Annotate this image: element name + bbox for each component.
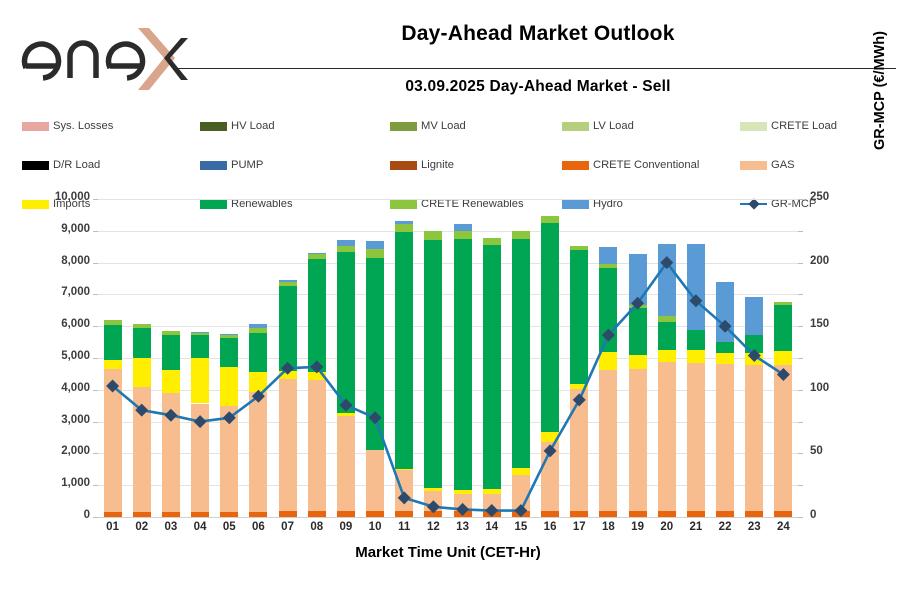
bar-segment xyxy=(570,389,588,511)
bar-segment xyxy=(337,416,355,511)
bar-column[interactable] xyxy=(279,199,297,517)
bar-segment xyxy=(220,334,238,335)
y-axis-right-tick-label: 250 xyxy=(810,191,870,203)
legend-swatch-icon xyxy=(200,122,227,131)
y-axis-left-tick xyxy=(93,485,98,486)
bar-segment xyxy=(483,245,501,489)
y-axis-left-tick-label: 10,000 xyxy=(20,191,90,203)
bar-column[interactable] xyxy=(162,199,180,517)
bar-segment xyxy=(424,231,442,239)
y-axis-left-tick xyxy=(93,326,98,327)
bar-segment xyxy=(629,308,647,355)
y-axis-left-tick xyxy=(93,263,98,264)
bar-column[interactable] xyxy=(658,199,676,517)
bar-column[interactable] xyxy=(220,199,238,517)
x-axis-tick-label: 04 xyxy=(186,521,214,533)
y-axis-left-tick xyxy=(93,390,98,391)
bar-segment xyxy=(774,365,792,511)
bar-column[interactable] xyxy=(366,199,384,517)
y-axis-left-tick xyxy=(93,517,98,518)
y-axis-left-tick-label: 1,000 xyxy=(20,477,90,489)
bar-segment xyxy=(308,372,326,380)
x-axis-tick-label: 12 xyxy=(419,521,447,533)
bar-column[interactable] xyxy=(104,199,122,517)
legend-row: D/R LoadPUMPLigniteCRETE ConventionalGAS xyxy=(22,140,902,160)
bar-column[interactable] xyxy=(629,199,647,517)
bar-segment xyxy=(512,475,530,511)
y-axis-right-title: GR-MCP (€/MWh) xyxy=(872,31,888,150)
bar-segment xyxy=(133,324,151,327)
bar-segment xyxy=(191,333,209,336)
page-subtitle: 03.09.2025 Day-Ahead Market - Sell xyxy=(180,78,896,96)
y-axis-right-tick xyxy=(798,199,803,200)
bar-segment xyxy=(308,380,326,511)
bar-column[interactable] xyxy=(395,199,413,517)
x-axis-tick-label: 16 xyxy=(536,521,564,533)
bar-segment xyxy=(104,320,122,325)
bar-segment xyxy=(366,249,384,257)
bar-segment xyxy=(687,244,705,330)
bar-segment xyxy=(395,224,413,232)
x-axis-tick-label: 08 xyxy=(303,521,331,533)
bar-segment xyxy=(599,264,617,267)
x-axis-tick-label: 14 xyxy=(478,521,506,533)
bar-segment xyxy=(104,325,122,360)
legend-item-hv-load[interactable]: HV Load xyxy=(200,120,275,132)
bar-column[interactable] xyxy=(424,199,442,517)
x-axis-tick-label: 10 xyxy=(361,521,389,533)
bar-segment xyxy=(133,328,151,358)
x-axis-tick-label: 15 xyxy=(507,521,535,533)
bar-segment xyxy=(162,393,180,512)
bar-segment xyxy=(658,316,676,322)
bar-segment xyxy=(658,244,676,316)
bar-column[interactable] xyxy=(687,199,705,517)
bar-column[interactable] xyxy=(570,199,588,517)
y-axis-right-tick xyxy=(798,358,803,359)
bar-segment xyxy=(541,442,559,511)
bar-segment xyxy=(483,494,501,511)
bar-segment xyxy=(279,379,297,511)
y-axis-left-tick-label: 7,000 xyxy=(20,286,90,298)
bar-segment xyxy=(454,239,472,490)
legend-label: MV Load xyxy=(421,120,466,132)
x-axis-line xyxy=(98,517,798,518)
bar-column[interactable] xyxy=(308,199,326,517)
x-axis-tick-label: 01 xyxy=(99,521,127,533)
y-axis-left-tick xyxy=(93,358,98,359)
chart-legend: Sys. LossesHV LoadMV LoadLV LoadCRETE Lo… xyxy=(22,120,902,178)
bar-segment xyxy=(687,350,705,363)
page-title: Day-Ahead Market Outlook xyxy=(180,22,896,46)
bar-segment xyxy=(454,490,472,494)
bar-segment xyxy=(337,252,355,414)
bar-segment xyxy=(629,355,647,369)
y-axis-left-tick-label: 3,000 xyxy=(20,414,90,426)
bar-segment xyxy=(512,239,530,468)
y-axis-left-tick xyxy=(93,231,98,232)
bar-segment xyxy=(249,324,267,328)
y-axis-right-tick xyxy=(798,485,803,486)
bar-segment xyxy=(395,469,413,470)
bar-segment xyxy=(104,360,122,370)
bar-segment xyxy=(745,353,763,365)
bar-segment xyxy=(570,250,588,384)
bar-segment xyxy=(658,362,676,511)
bar-segment xyxy=(249,333,267,372)
bar-segment xyxy=(133,358,151,387)
bar-segment xyxy=(541,223,559,432)
bar-segment xyxy=(716,282,734,341)
bar-segment xyxy=(220,334,238,338)
bar-segment xyxy=(745,297,763,335)
x-axis-tick-label: 17 xyxy=(565,521,593,533)
bar-segment xyxy=(658,322,676,350)
legend-item-mv-load[interactable]: MV Load xyxy=(390,120,466,132)
bar-column[interactable] xyxy=(337,199,355,517)
bar-segment xyxy=(395,221,413,224)
bar-segment xyxy=(541,216,559,223)
x-axis-tick-label: 18 xyxy=(594,521,622,533)
header-divider xyxy=(178,68,896,69)
bar-column[interactable] xyxy=(454,199,472,517)
y-axis-right-tick-label: 0 xyxy=(810,509,870,521)
bar-segment xyxy=(745,365,763,512)
legend-row: Sys. LossesHV LoadMV LoadLV LoadCRETE Lo… xyxy=(22,120,902,140)
y-axis-left-tick-label: 2,000 xyxy=(20,445,90,457)
y-axis-right-tick-label: 150 xyxy=(810,318,870,330)
legend-label: HV Load xyxy=(231,120,275,132)
x-axis-tick-label: 20 xyxy=(653,521,681,533)
bar-segment xyxy=(424,240,442,488)
bar-segment xyxy=(220,367,238,407)
bar-segment xyxy=(337,413,355,416)
bar-segment xyxy=(279,286,297,371)
chart-plot-area xyxy=(98,199,798,517)
bar-segment xyxy=(658,350,676,363)
bar-column[interactable] xyxy=(133,199,151,517)
bar-segment xyxy=(366,241,384,249)
legend-swatch-icon xyxy=(740,122,767,131)
y-axis-right-tick xyxy=(798,453,803,454)
x-axis-tick-label: 03 xyxy=(157,521,185,533)
y-axis-right-tick-label: 50 xyxy=(810,445,870,457)
bar-segment xyxy=(133,387,151,512)
bar-segment xyxy=(716,342,734,353)
bar-segment xyxy=(162,370,180,392)
bar-segment xyxy=(745,335,763,353)
y-axis-left-tick xyxy=(93,422,98,423)
y-axis-right-tick xyxy=(798,390,803,391)
legend-item-crete-load[interactable]: CRETE Load xyxy=(740,120,837,132)
y-axis-left-tick xyxy=(93,199,98,200)
bar-segment xyxy=(395,470,413,512)
bar-segment xyxy=(249,392,267,511)
bar-column[interactable] xyxy=(599,199,617,517)
bar-segment xyxy=(279,282,297,286)
bar-segment xyxy=(599,268,617,352)
legend-label: LV Load xyxy=(593,120,634,132)
y-axis-right-tick-label: 100 xyxy=(810,382,870,394)
legend-item-lv-load[interactable]: LV Load xyxy=(562,120,634,132)
bar-segment xyxy=(424,488,442,492)
bar-segment xyxy=(629,305,647,308)
bar-segment xyxy=(220,338,238,366)
bar-segment xyxy=(687,330,705,350)
x-axis-tick-label: 07 xyxy=(274,521,302,533)
x-axis-tick-label: 23 xyxy=(740,521,768,533)
legend-swatch-icon xyxy=(390,122,417,131)
enex-logo xyxy=(18,18,188,98)
y-axis-right-tick xyxy=(798,294,803,295)
x-axis-tick-label: 11 xyxy=(390,521,418,533)
y-axis-right-tick xyxy=(798,326,803,327)
bar-segment xyxy=(366,258,384,450)
bar-segment xyxy=(104,369,122,511)
bar-segment xyxy=(308,253,326,254)
x-axis-tick-label: 06 xyxy=(244,521,272,533)
bar-column[interactable] xyxy=(774,199,792,517)
bar-column[interactable] xyxy=(191,199,209,517)
bar-segment xyxy=(599,352,617,370)
bar-column[interactable] xyxy=(716,199,734,517)
x-axis-tick-label: 19 xyxy=(624,521,652,533)
bar-segment xyxy=(629,369,647,511)
x-axis-tick-label: 13 xyxy=(449,521,477,533)
bar-segment xyxy=(308,259,326,372)
x-axis-tick-label: 24 xyxy=(769,521,797,533)
bar-segment xyxy=(424,491,442,511)
bar-segment xyxy=(162,331,180,335)
bar-column[interactable] xyxy=(541,199,559,517)
bar-segment xyxy=(774,305,792,351)
legend-swatch-icon xyxy=(562,122,589,131)
bar-segment xyxy=(191,404,209,512)
x-axis-tick-label: 05 xyxy=(215,521,243,533)
bar-segment xyxy=(454,224,472,232)
y-axis-left-tick xyxy=(93,294,98,295)
bar-segment xyxy=(249,328,267,332)
y-axis-left-tick-label: 4,000 xyxy=(20,382,90,394)
x-axis-tick-label: 09 xyxy=(332,521,360,533)
x-axis-tick-label: 22 xyxy=(711,521,739,533)
bar-column[interactable] xyxy=(483,199,501,517)
legend-row: ImportsRenewablesCRETE RenewablesHydroGR… xyxy=(22,159,902,179)
y-axis-right-tick-label: 200 xyxy=(810,255,870,267)
bar-segment xyxy=(279,371,297,379)
bar-segment xyxy=(512,231,530,239)
bar-segment xyxy=(191,335,209,358)
bar-segment xyxy=(191,332,209,333)
bar-segment xyxy=(774,302,792,305)
bar-segment xyxy=(162,335,180,370)
bar-segment xyxy=(599,247,617,264)
bar-segment xyxy=(483,489,501,494)
y-axis-left-tick-label: 8,000 xyxy=(20,255,90,267)
legend-label: CRETE Load xyxy=(771,120,837,132)
bar-column[interactable] xyxy=(745,199,763,517)
bar-column[interactable] xyxy=(512,199,530,517)
bar-segment xyxy=(570,246,588,250)
bar-segment xyxy=(687,363,705,512)
bar-segment xyxy=(629,254,647,305)
bar-segment xyxy=(599,370,617,511)
y-axis-right-tick xyxy=(798,422,803,423)
bar-segment xyxy=(454,231,472,239)
x-axis-tick-label: 02 xyxy=(128,521,156,533)
y-axis-left-tick xyxy=(93,453,98,454)
bar-segment xyxy=(249,372,267,393)
legend-item-sys-losses[interactable]: Sys. Losses xyxy=(22,120,113,132)
bar-segment xyxy=(541,432,559,442)
bar-segment xyxy=(337,240,355,246)
bar-segment xyxy=(279,280,297,282)
y-axis-left-tick-label: 6,000 xyxy=(20,318,90,330)
y-axis-left-tick-label: 0 xyxy=(20,509,90,521)
bar-segment xyxy=(570,384,588,390)
bar-segment xyxy=(512,468,530,475)
y-axis-left-tick-label: 9,000 xyxy=(20,223,90,235)
bar-segment xyxy=(716,353,734,363)
bar-segment xyxy=(395,232,413,469)
legend-swatch-icon xyxy=(22,122,49,131)
bar-segment xyxy=(716,364,734,512)
y-axis-left-tick-label: 5,000 xyxy=(20,350,90,362)
bar-segment xyxy=(483,238,501,246)
x-axis-tick-label: 21 xyxy=(682,521,710,533)
bar-column[interactable] xyxy=(249,199,267,517)
bar-segment xyxy=(337,246,355,251)
y-axis-right-tick xyxy=(798,263,803,264)
bar-segment xyxy=(308,254,326,259)
bar-segment xyxy=(191,358,209,403)
y-axis-right-tick xyxy=(798,517,803,518)
bar-segment xyxy=(220,406,238,511)
x-axis-title: Market Time Unit (CET-Hr) xyxy=(98,544,798,561)
bar-segment xyxy=(366,450,384,511)
bar-segment xyxy=(774,351,792,365)
y-axis-right-tick xyxy=(798,231,803,232)
bar-segment xyxy=(454,494,472,511)
legend-label: Sys. Losses xyxy=(53,120,113,132)
